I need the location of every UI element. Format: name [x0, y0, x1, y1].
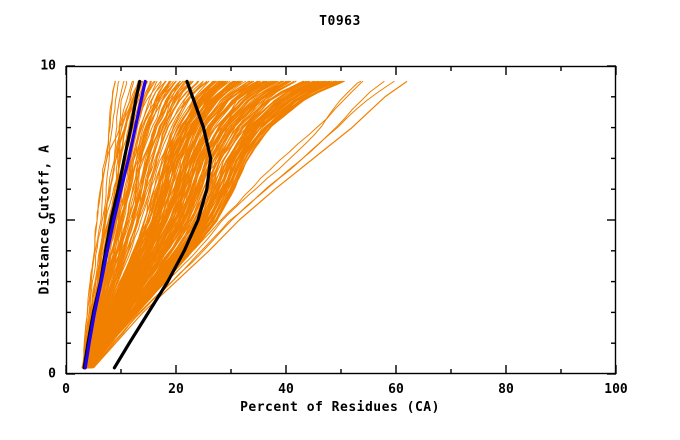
- x-tick-label: 40: [278, 382, 294, 397]
- y-tick-label: 10: [0, 59, 56, 74]
- y-tick-label: 0: [0, 367, 56, 382]
- x-tick-label: 0: [62, 382, 70, 397]
- plot-canvas: [0, 0, 680, 440]
- chart-figure: T0963 Distance Cutoff, A Percent of Resi…: [0, 0, 680, 440]
- x-axis-label: Percent of Residues (CA): [0, 400, 680, 415]
- x-tick-label: 80: [498, 382, 514, 397]
- y-tick-label: 5: [0, 213, 56, 228]
- x-tick-label: 100: [604, 382, 627, 397]
- x-tick-label: 20: [168, 382, 184, 397]
- x-tick-label: 60: [388, 382, 404, 397]
